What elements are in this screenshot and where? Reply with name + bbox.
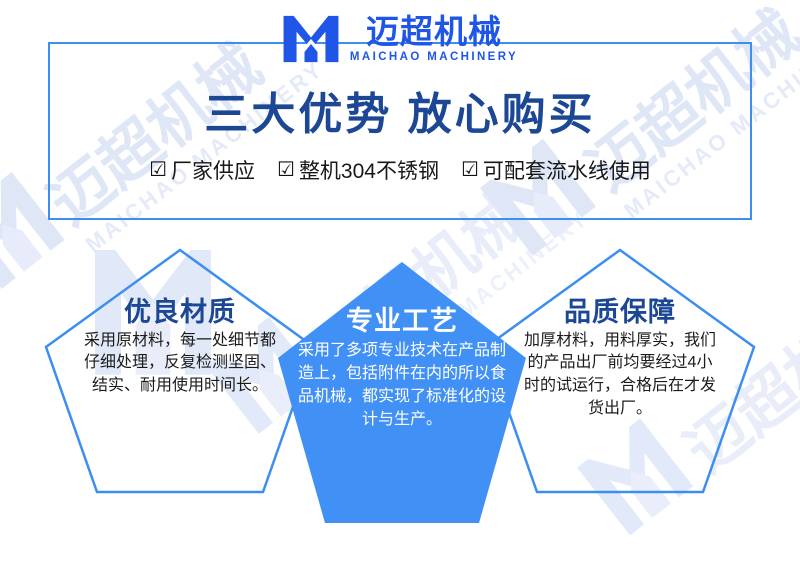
- feature-label-0: 厂家供应: [171, 155, 255, 185]
- advantage-title-craft: 专业工艺: [290, 307, 514, 337]
- advantage-card-content: 优良材质 采用原材料，每一处细节都仔细处理，反复检测坚固、结实、耐用使用时间长。: [42, 246, 318, 398]
- brand-name-en: MAICHAO MACHINERY: [350, 51, 518, 63]
- feature-item-1: ☑ 整机304不锈钢: [277, 155, 439, 185]
- advantage-body-craft: 采用了多项专业技术在产品制造上，包括附件在内的所以食品机械，都实现了标准化的设计…: [290, 337, 514, 432]
- infographic-canvas: 迈超机械 MAICHAO MACHINERY 迈超机械 MAICHAO MACH…: [0, 0, 800, 578]
- checkbox-checked-icon: ☑: [277, 160, 295, 180]
- advantage-card-material: 优良材质 采用原材料，每一处细节都仔细处理，反复检测坚固、结实、耐用使用时间长。: [42, 246, 318, 496]
- advantage-card-craft: 专业工艺 采用了多项专业技术在产品制造上，包括附件在内的所以食品机械，都实现了标…: [278, 262, 526, 526]
- advantage-title-material: 优良材质: [72, 298, 288, 328]
- page-title: 三大优势 放心购买: [48, 78, 752, 142]
- feature-checklist: ☑ 厂家供应 ☑ 整机304不锈钢 ☑ 可配套流水线使用: [48, 155, 752, 185]
- brand-name-cn: 迈超机械: [366, 15, 502, 49]
- brand-logo: 迈超机械 MAICHAO MACHINERY: [0, 8, 800, 70]
- advantage-card-content: 专业工艺 采用了多项专业技术在产品制造上，包括附件在内的所以食品机械，都实现了标…: [278, 262, 526, 431]
- checkbox-checked-icon: ☑: [461, 160, 479, 180]
- advantage-body-material: 采用原材料，每一处细节都仔细处理，反复检测坚固、结实、耐用使用时间长。: [72, 328, 288, 398]
- feature-item-2: ☑ 可配套流水线使用: [461, 155, 651, 185]
- checkbox-checked-icon: ☑: [149, 160, 167, 180]
- advantage-body-quality: 加厚材料，用料厚实，我们的产品出厂前均要经过4小时的试运行，合格后在才发货出厂。: [512, 328, 728, 421]
- brand-logo-text: 迈超机械 MAICHAO MACHINERY: [350, 15, 518, 64]
- feature-label-1: 整机304不锈钢: [299, 155, 439, 185]
- maichao-m-logo-icon: [282, 13, 340, 65]
- advantage-title-quality: 品质保障: [512, 298, 728, 328]
- feature-item-0: ☑ 厂家供应: [149, 155, 255, 185]
- feature-label-2: 可配套流水线使用: [483, 155, 651, 185]
